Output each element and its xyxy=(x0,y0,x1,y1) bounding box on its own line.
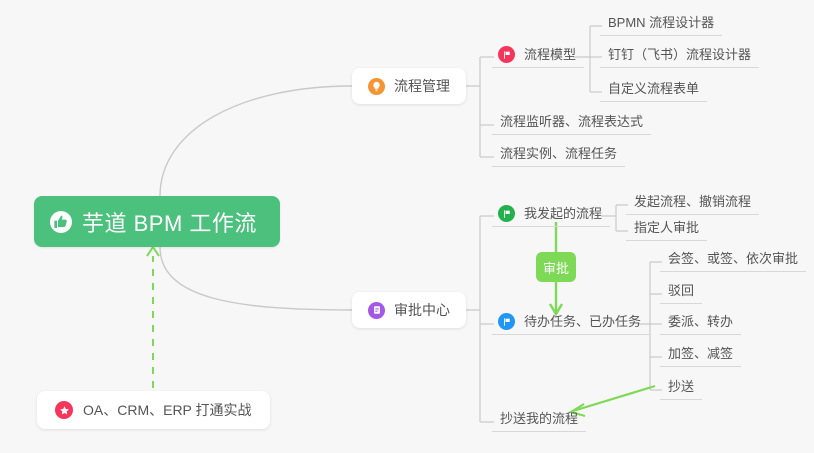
link-root-to-approval-center xyxy=(160,247,352,310)
flag-icon xyxy=(498,205,515,222)
node-delegate-transfer[interactable]: 委派、转办 xyxy=(660,313,741,335)
node-start-cancel-process[interactable]: 发起流程、撤销流程 xyxy=(626,193,759,215)
node-reject[interactable]: 驳回 xyxy=(660,282,702,304)
node-bpmn-designer-label: BPMN 流程设计器 xyxy=(608,13,714,33)
node-assignee-approval-label: 指定人审批 xyxy=(634,218,699,238)
node-dingtalk-feishu-designer[interactable]: 钉钉（飞书）流程设计器 xyxy=(600,46,759,68)
node-process-instance-task-label: 流程实例、流程任务 xyxy=(500,144,617,164)
node-countersign-or-sequential-label: 会签、或签、依次审批 xyxy=(668,249,798,269)
node-process-management[interactable]: 流程管理 xyxy=(352,68,466,104)
node-process-model-label: 流程模型 xyxy=(524,45,576,65)
node-reject-label: 驳回 xyxy=(668,281,694,301)
star-icon xyxy=(55,401,73,419)
node-approval-center[interactable]: 审批中心 xyxy=(352,292,466,328)
approval-badge-label: 审批 xyxy=(543,258,569,277)
node-approval-center-label: 审批中心 xyxy=(394,300,450,320)
node-delegate-transfer-label: 委派、转办 xyxy=(668,312,733,332)
node-cc-to-me-process-label: 抄送我的流程 xyxy=(500,409,578,429)
node-my-initiated-process-label: 我发起的流程 xyxy=(524,204,602,224)
node-dingtalk-feishu-designer-label: 钉钉（飞书）流程设计器 xyxy=(608,45,751,65)
node-process-management-label: 流程管理 xyxy=(394,76,450,96)
mindmap-canvas: 芋道 BPM 工作流 流程管理 流程模型 BPMN 流程设计器 钉钉（飞书）流程… xyxy=(0,0,814,453)
dashed-arrow-head xyxy=(147,247,159,256)
approval-badge: 审批 xyxy=(536,252,576,282)
node-cc[interactable]: 抄送 xyxy=(660,378,702,400)
node-todo-done-tasks-label: 待办任务、已办任务 xyxy=(524,312,641,332)
node-custom-process-form[interactable]: 自定义流程表单 xyxy=(600,80,707,102)
note-label: OA、CRM、ERP 打通实战 xyxy=(83,400,252,420)
node-start-cancel-process-label: 发起流程、撤销流程 xyxy=(634,192,751,212)
node-my-initiated-process[interactable]: 我发起的流程 xyxy=(492,205,610,227)
flag-icon xyxy=(498,46,515,63)
node-process-instance-task[interactable]: 流程实例、流程任务 xyxy=(492,145,625,167)
node-process-listener-expression[interactable]: 流程监听器、流程表达式 xyxy=(492,113,651,135)
lightbulb-icon xyxy=(368,78,385,95)
node-countersign-or-sequential[interactable]: 会签、或签、依次审批 xyxy=(660,250,806,272)
cc-arrow-shaft xyxy=(573,386,655,411)
node-add-remove-sign-label: 加签、减签 xyxy=(668,344,733,364)
node-todo-done-tasks[interactable]: 待办任务、已办任务 xyxy=(492,313,649,335)
node-add-remove-sign[interactable]: 加签、减签 xyxy=(660,345,741,367)
note-node[interactable]: OA、CRM、ERP 打通实战 xyxy=(37,391,270,429)
flag-icon xyxy=(498,313,515,330)
root-label: 芋道 BPM 工作流 xyxy=(82,206,257,238)
node-cc-to-me-process[interactable]: 抄送我的流程 xyxy=(492,410,586,432)
root-node[interactable]: 芋道 BPM 工作流 xyxy=(34,196,280,247)
link-root-to-process-management xyxy=(160,86,352,196)
node-bpmn-designer[interactable]: BPMN 流程设计器 xyxy=(600,14,722,36)
node-cc-label: 抄送 xyxy=(668,377,694,397)
clipboard-icon xyxy=(368,302,385,319)
node-assignee-approval[interactable]: 指定人审批 xyxy=(626,219,707,241)
node-process-model[interactable]: 流程模型 xyxy=(492,46,584,68)
node-process-listener-expression-label: 流程监听器、流程表达式 xyxy=(500,112,643,132)
node-custom-process-form-label: 自定义流程表单 xyxy=(608,79,699,99)
thumbs-up-icon xyxy=(50,211,72,233)
